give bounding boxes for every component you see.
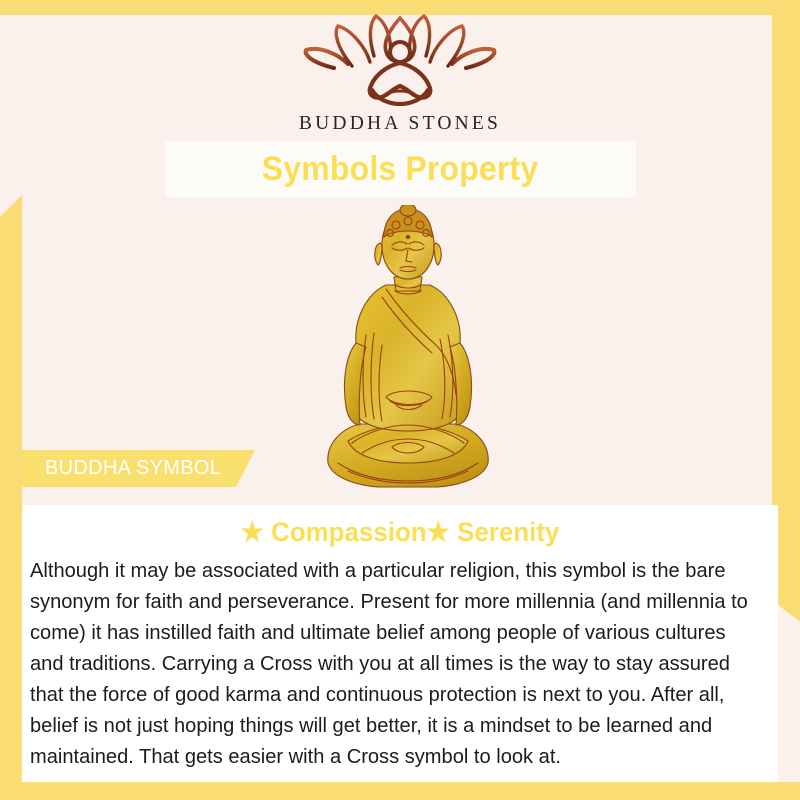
section-ribbon-label: BUDDHA SYMBOL	[45, 457, 221, 480]
page-title: Symbols Property	[262, 150, 539, 189]
lotus-meditation-icon	[0, 6, 800, 111]
seated-buddha-statue-icon	[322, 205, 494, 495]
article-body: Although it may be associated with a par…	[30, 556, 759, 773]
frame-left-band	[0, 195, 22, 782]
brand-lockup: BUDDHA STONES	[0, 6, 800, 135]
poster-root: BUDDHA STONES Symbols Property	[0, 0, 800, 800]
article-headline: ★ Compassion★ Serenity	[37, 517, 763, 548]
brand-name: BUDDHA STONES	[0, 113, 800, 135]
section-ribbon: BUDDHA SYMBOL	[22, 450, 255, 487]
article-panel: ★ Compassion★ Serenity Although it may b…	[22, 505, 778, 782]
title-plaque: Symbols Property	[165, 141, 636, 197]
frame-bottom-band	[0, 782, 800, 800]
